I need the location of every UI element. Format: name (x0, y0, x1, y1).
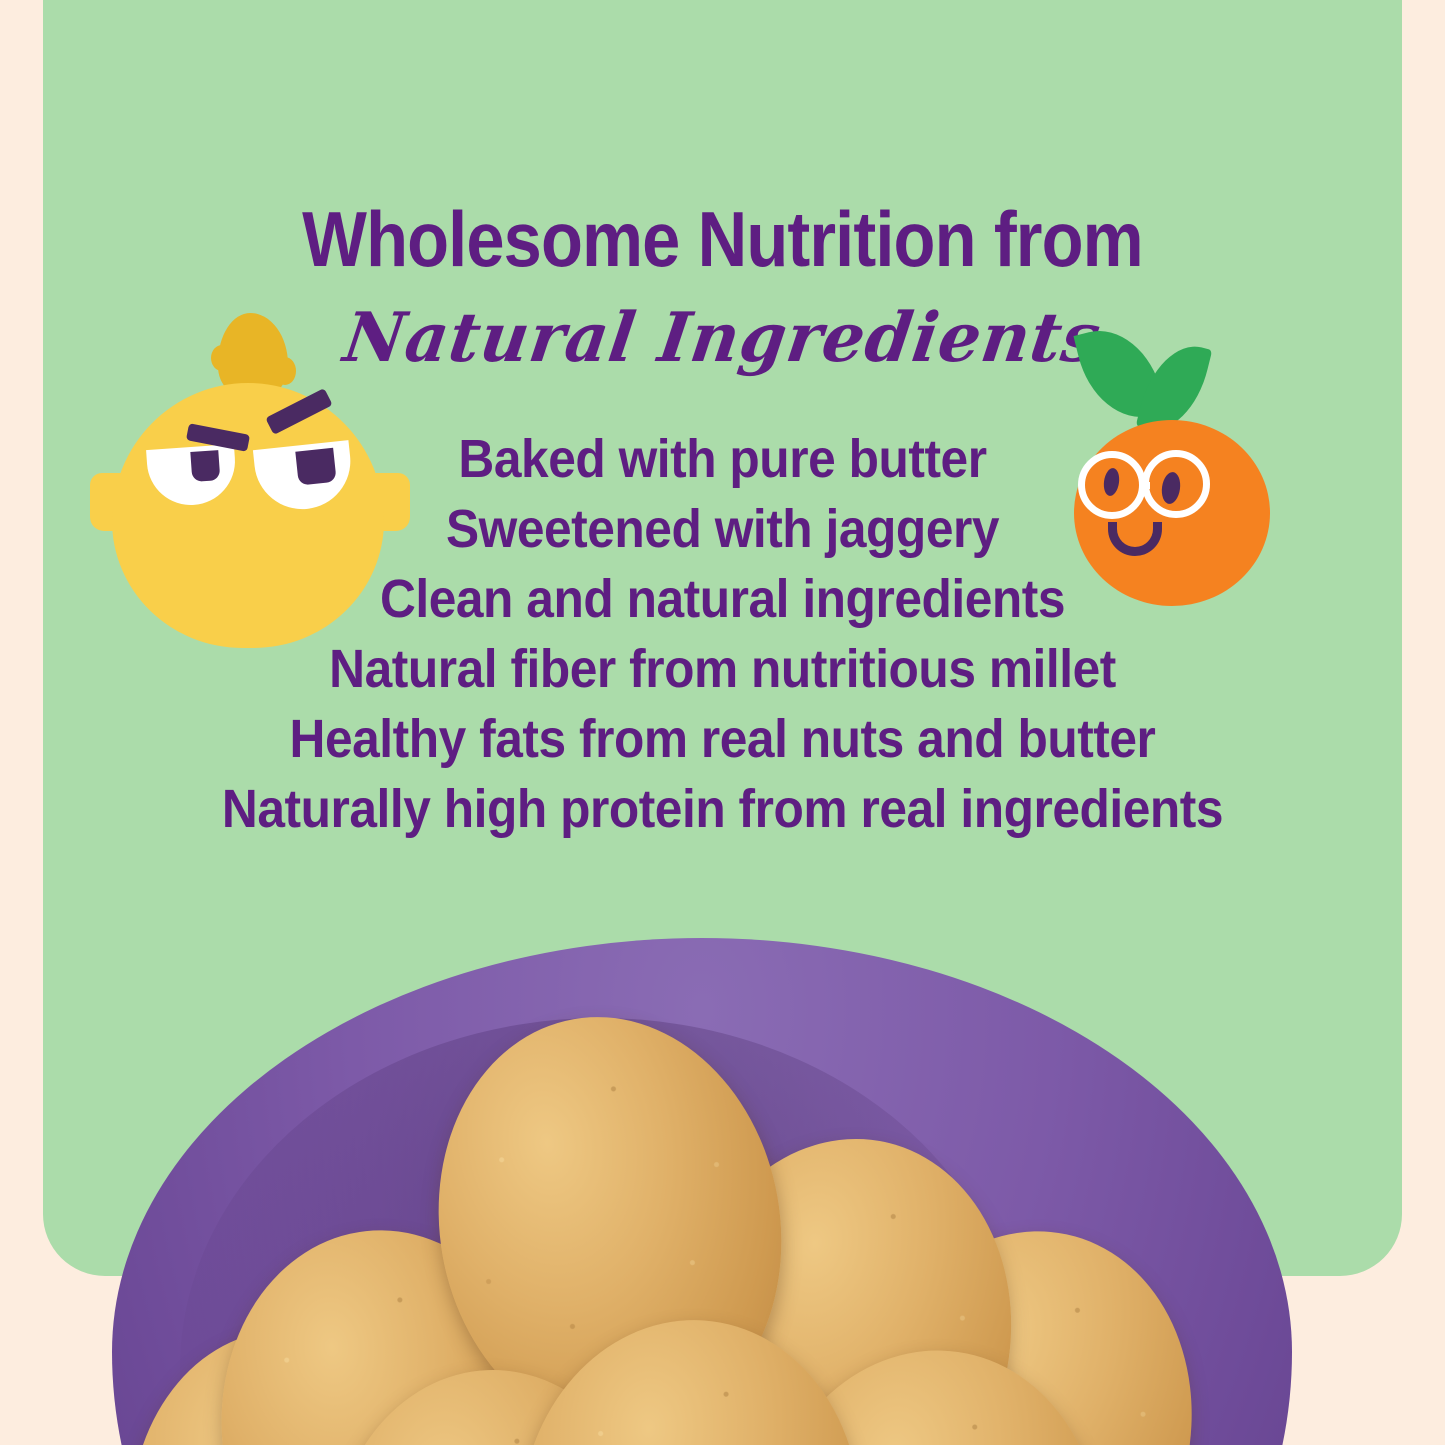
benefit-item: Healthy fats from real nuts and butter (58, 704, 1387, 774)
page-title: Wholesome Nutrition from (87, 196, 1359, 282)
benefits-list: Baked with pure butter Sweetened with ja… (0, 424, 1445, 844)
poster-canvas: Wholesome Nutrition from Natural Ingredi… (0, 0, 1445, 1445)
benefit-item: Baked with pure butter (58, 424, 1387, 494)
benefit-item: Natural fiber from nutritious millet (58, 634, 1387, 704)
benefit-item: Naturally high protein from real ingredi… (58, 774, 1387, 844)
benefit-item: Clean and natural ingredients (58, 564, 1387, 634)
benefit-item: Sweetened with jaggery (58, 494, 1387, 564)
product-photo (0, 900, 1445, 1445)
